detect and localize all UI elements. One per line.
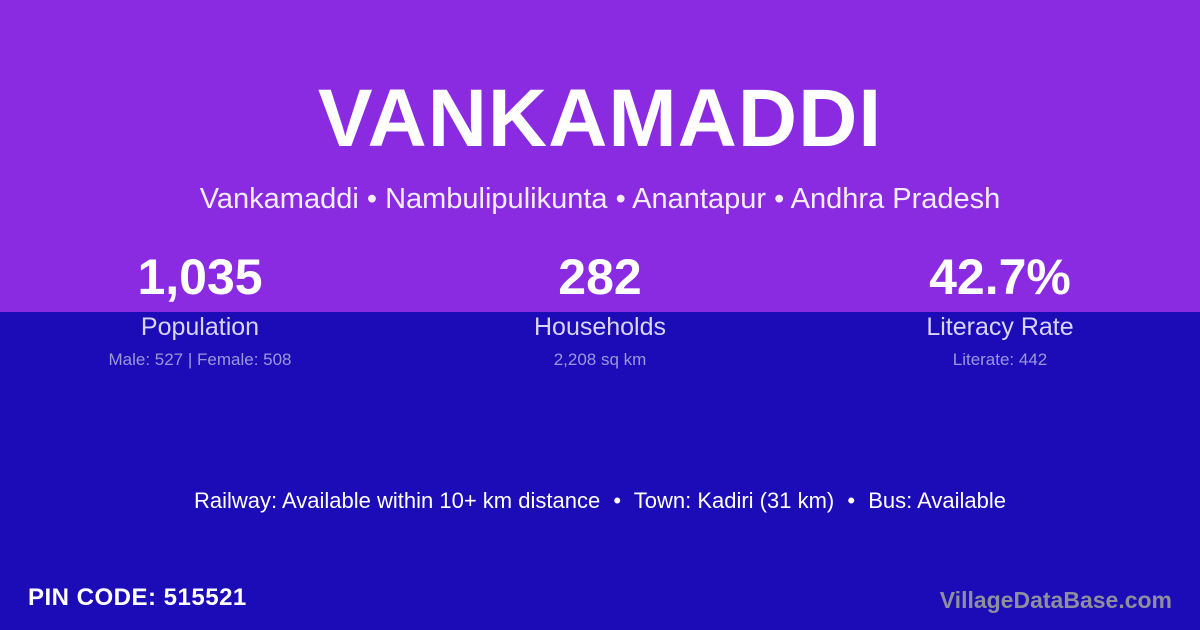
stat-value-population: 1,035	[0, 248, 400, 306]
infra-railway: Railway: Available within 10+ km distanc…	[194, 488, 600, 513]
site-brand: VillageDataBase.com	[940, 586, 1172, 614]
infra-separator-1: •	[606, 488, 628, 513]
stat-label-population: Population	[0, 312, 400, 342]
page-title: VANKAMADDI	[0, 0, 1200, 160]
stat-value-literacy-rate: 42.7%	[800, 248, 1200, 306]
card-footer: PIN CODE: 515521 VillageDataBase.com	[0, 556, 1200, 630]
village-info-card: VANKAMADDI Vankamaddi • Nambulipulikunta…	[0, 0, 1200, 630]
stat-literacy-rate: 42.7% Literacy Rate Literate: 442	[800, 248, 1200, 370]
infra-separator-2: •	[840, 488, 862, 513]
stat-households: 282 Households 2,208 sq km	[400, 248, 800, 370]
infra-bus: Bus: Available	[868, 488, 1006, 513]
stat-sub-households: 2,208 sq km	[400, 350, 800, 370]
stat-value-households: 282	[400, 248, 800, 306]
infrastructure-line: Railway: Available within 10+ km distanc…	[0, 487, 1200, 515]
stats-row: 1,035 Population Male: 527 | Female: 508…	[0, 248, 1200, 370]
stat-label-literacy-rate: Literacy Rate	[800, 312, 1200, 342]
infra-town: Town: Kadiri (31 km)	[634, 488, 835, 513]
card-header: VANKAMADDI Vankamaddi • Nambulipulikunta…	[0, 0, 1200, 216]
stat-population: 1,035 Population Male: 527 | Female: 508	[0, 248, 400, 370]
stat-sub-population: Male: 527 | Female: 508	[0, 350, 400, 370]
stat-sub-literacy-rate: Literate: 442	[800, 350, 1200, 370]
pin-code: PIN CODE: 515521	[28, 584, 247, 612]
stat-label-households: Households	[400, 312, 800, 342]
breadcrumb: Vankamaddi • Nambulipulikunta • Anantapu…	[0, 160, 1200, 216]
